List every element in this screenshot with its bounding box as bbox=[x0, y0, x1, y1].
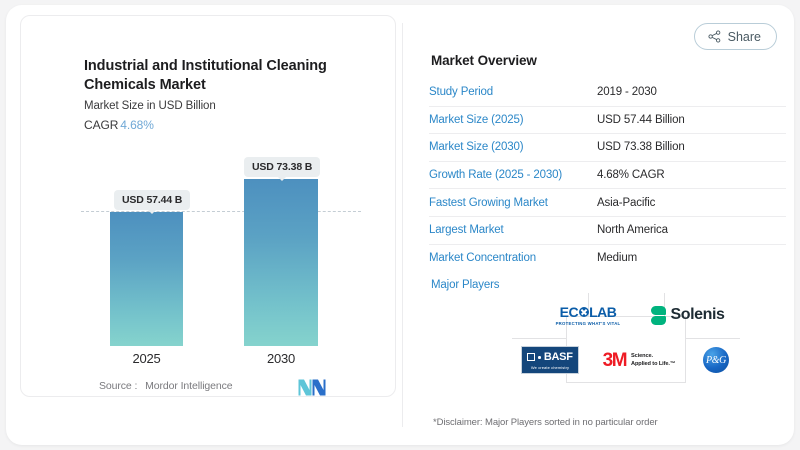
bar-chart-plot: USD 57.44 B USD 73.38 B 2025 2030 bbox=[21, 16, 397, 398]
row-label: Study Period bbox=[429, 86, 597, 98]
chart-panel: Industrial and Institutional Cleaning Ch… bbox=[20, 15, 396, 397]
bar-2025[interactable] bbox=[110, 212, 183, 346]
table-row: Market Size (2025) USD 57.44 Billion bbox=[429, 107, 786, 135]
share-nodes-icon bbox=[708, 30, 721, 43]
table-row: Growth Rate (2025 - 2030) 4.68% CAGR bbox=[429, 162, 786, 190]
row-value: North America bbox=[597, 224, 668, 236]
source-line: Source : Mordor Intelligence bbox=[99, 380, 233, 392]
table-row: Market Concentration Medium bbox=[429, 245, 786, 272]
market-overview-table: Study Period 2019 - 2030 Market Size (20… bbox=[429, 79, 786, 271]
major-players-grid: ECLAB PROTECTING WHAT'S VITAL Solenis bbox=[512, 293, 740, 383]
x-tick-2025: 2025 bbox=[110, 351, 183, 366]
share-button[interactable]: Share bbox=[694, 23, 777, 50]
ecolab-wordmark: ECLAB bbox=[556, 305, 621, 319]
row-label: Market Size (2030) bbox=[429, 141, 597, 153]
row-value: USD 73.38 Billion bbox=[597, 141, 685, 153]
3m-wordmark: 3M bbox=[603, 351, 626, 370]
player-logo-solenis: Solenis bbox=[642, 295, 734, 335]
player-logo-basf: BASF We create chemistry bbox=[514, 343, 586, 377]
mordor-intelligence-logo bbox=[298, 379, 326, 396]
row-label: Fastest Growing Market bbox=[429, 197, 597, 209]
share-button-label: Share bbox=[728, 30, 761, 44]
market-overview-title: Market Overview bbox=[431, 53, 537, 68]
row-label: Largest Market bbox=[429, 224, 597, 236]
ecolab-tagline: PROTECTING WHAT'S VITAL bbox=[556, 321, 621, 326]
pg-wordmark: P&G bbox=[703, 347, 729, 373]
3m-tagline: Science. Applied to Life.™ bbox=[631, 352, 675, 368]
bar-label-2025: USD 57.44 B bbox=[114, 190, 190, 210]
row-label: Market Size (2025) bbox=[429, 114, 597, 126]
row-value: 2019 - 2030 bbox=[597, 86, 657, 98]
report-card: Industrial and Institutional Cleaning Ch… bbox=[6, 5, 794, 445]
source-label: Source : bbox=[99, 380, 137, 392]
row-label: Market Concentration bbox=[429, 252, 597, 264]
ecolab-o-icon bbox=[579, 307, 589, 317]
player-logo-3m: 3M Science. Applied to Life.™ bbox=[590, 343, 688, 377]
row-value: Medium bbox=[597, 252, 637, 264]
table-row: Study Period 2019 - 2030 bbox=[429, 79, 786, 107]
bar-2030[interactable] bbox=[244, 179, 318, 346]
row-value: Asia-Pacific bbox=[597, 197, 655, 209]
table-row: Fastest Growing Market Asia-Pacific bbox=[429, 189, 786, 217]
source-name: Mordor Intelligence bbox=[145, 380, 232, 392]
bar-label-2030: USD 73.38 B bbox=[244, 157, 320, 177]
3m-tagline-line1: Science. bbox=[631, 352, 675, 360]
player-logo-pg: P&G bbox=[692, 343, 740, 377]
basf-dot-icon bbox=[538, 356, 541, 359]
basf-square-icon bbox=[527, 353, 535, 361]
disclaimer-text: *Disclaimer: Major Players sorted in no … bbox=[433, 417, 658, 428]
basf-wordmark: BASF bbox=[544, 351, 573, 363]
row-label: Growth Rate (2025 - 2030) bbox=[429, 169, 597, 181]
major-players-label: Major Players bbox=[431, 279, 499, 291]
row-value: 4.68% CAGR bbox=[597, 169, 665, 181]
panel-divider bbox=[402, 23, 403, 427]
table-row: Largest Market North America bbox=[429, 217, 786, 245]
player-logo-ecolab: ECLAB PROTECTING WHAT'S VITAL bbox=[542, 295, 634, 335]
page-root: Industrial and Institutional Cleaning Ch… bbox=[0, 0, 800, 450]
table-row: Market Size (2030) USD 73.38 Billion bbox=[429, 134, 786, 162]
basf-tagline: We create chemistry bbox=[527, 365, 572, 370]
row-value: USD 57.44 Billion bbox=[597, 114, 685, 126]
solenis-mark-icon bbox=[651, 306, 666, 325]
x-tick-2030: 2030 bbox=[244, 351, 318, 366]
3m-tagline-line2: Applied to Life.™ bbox=[631, 360, 675, 368]
solenis-wordmark: Solenis bbox=[670, 306, 724, 324]
